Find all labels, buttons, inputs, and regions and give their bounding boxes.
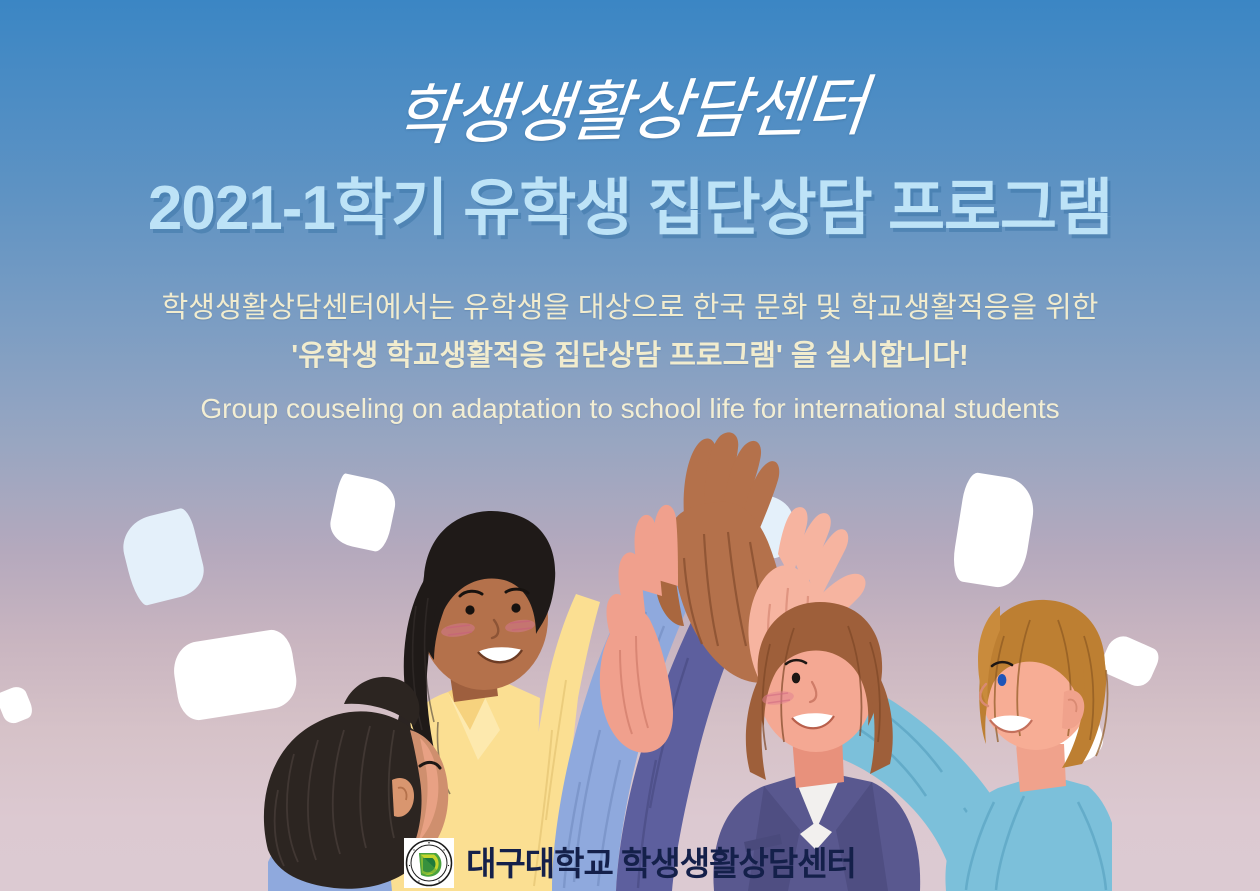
center-script-title: 학생생활상담센터 <box>0 45 1260 167</box>
four-students-high-five-illustration <box>148 430 1112 891</box>
paper-8-icon <box>0 684 35 727</box>
footer-bar: 대구대학교 학생생활상담센터 <box>0 835 1260 891</box>
description-line-1: 학생생활상담센터에서는 유학생을 대상으로 한국 문화 및 학교생활적응을 위한 <box>162 292 1099 324</box>
poster-canvas: 학생생활상담센터 2021-1학기 유학생 집단상담 프로그램 학생생활상담센터… <box>0 0 1260 891</box>
description-line-2: '유학생 학교생활적응 집단상담 프로그램' 을 실시합니다! <box>0 334 1260 378</box>
description-line-3-english: Group couseling on adaptation to school … <box>0 388 1260 431</box>
page-title: 2021-1학기 유학생 집단상담 프로그램 <box>0 176 1260 243</box>
organization-name: 대구대학교 학생생활상담센터 <box>466 847 856 880</box>
daegu-university-emblem-icon <box>404 838 454 888</box>
description-block: 학생생활상담센터에서는 유학생을 대상으로 한국 문화 및 학교생활적응을 위한… <box>0 286 1260 431</box>
